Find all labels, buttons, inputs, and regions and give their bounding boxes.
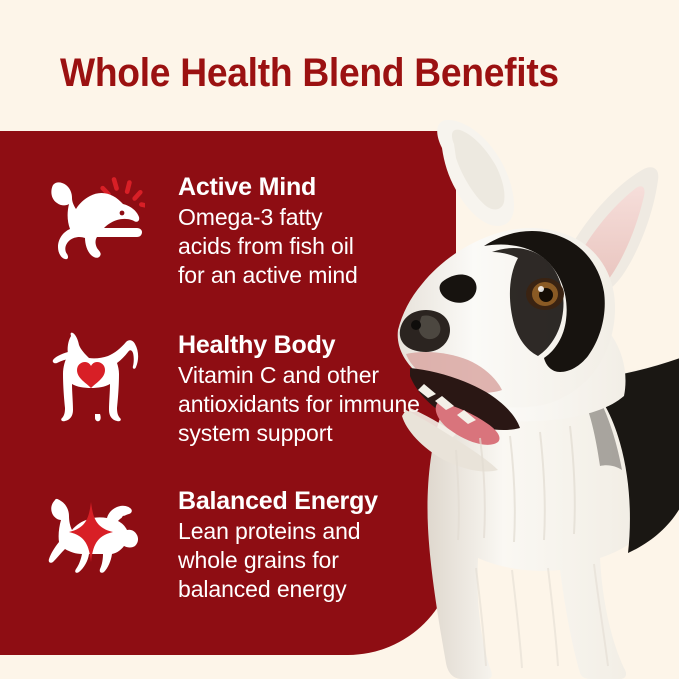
benefit-heading: Healthy Body — [178, 330, 420, 360]
benefit-item-active-mind: Active Mind Omega-3 fatty acids from fis… — [0, 172, 420, 290]
benefit-body: Lean proteins and whole grains for balan… — [178, 517, 378, 604]
dog-standing-heart-icon — [38, 330, 148, 422]
benefit-body-line: for an active mind — [178, 261, 358, 290]
benefit-item-healthy-body: Healthy Body Vitamin C and other antioxi… — [0, 330, 420, 448]
benefit-heading: Active Mind — [178, 172, 358, 202]
benefit-body-line: balanced energy — [178, 575, 378, 604]
benefit-text-block: Active Mind Omega-3 fatty acids from fis… — [178, 172, 358, 290]
benefit-body-line: whole grains for — [178, 546, 378, 575]
benefit-body-line: Lean proteins and — [178, 517, 378, 546]
dog-running-star-icon — [38, 486, 148, 578]
benefit-heading: Balanced Energy — [178, 486, 378, 516]
benefit-body-line: antioxidants for immune — [178, 390, 420, 419]
page-title: Whole Health Blend Benefits — [60, 48, 581, 100]
benefit-body-line: acids from fish oil — [178, 232, 358, 261]
benefit-body: Vitamin C and other antioxidants for imm… — [178, 361, 420, 448]
benefits-poster: Whole Health Blend Benefits — [0, 0, 679, 679]
benefit-body-line: Vitamin C and other — [178, 361, 420, 390]
benefit-text-block: Healthy Body Vitamin C and other antioxi… — [178, 330, 420, 448]
dog-play-bow-sparks-icon — [38, 172, 148, 264]
benefit-body-line: system support — [178, 419, 420, 448]
benefit-body: Omega-3 fatty acids from fish oil for an… — [178, 203, 358, 290]
benefit-item-balanced-energy: Balanced Energy Lean proteins and whole … — [0, 486, 420, 604]
benefit-text-block: Balanced Energy Lean proteins and whole … — [178, 486, 378, 604]
benefit-body-line: Omega-3 fatty — [178, 203, 358, 232]
